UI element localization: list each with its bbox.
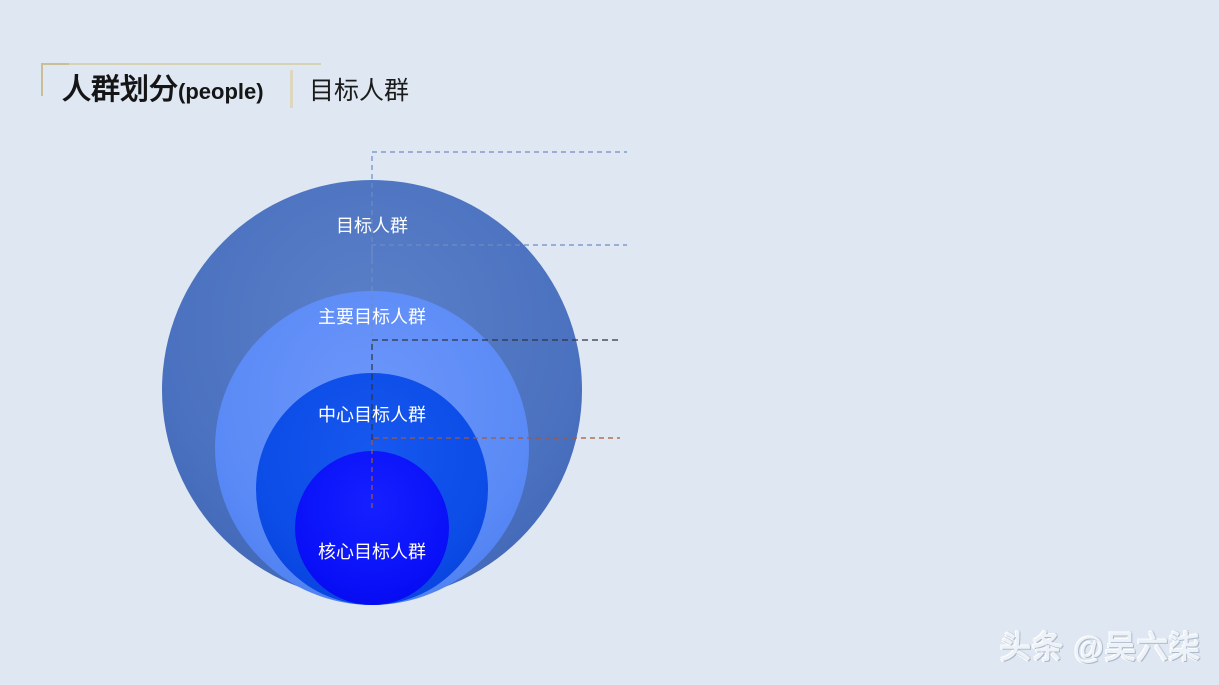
watermark: 头条 @吴六柒: [1000, 622, 1201, 667]
connector-target: [372, 152, 627, 260]
ring-label-core-target: 核心目标人群: [318, 540, 426, 564]
ring-label-target: 目标人群: [336, 214, 408, 238]
ring-label-center-target: 中心目标人群: [318, 403, 426, 427]
ring-circle-target: [162, 180, 582, 600]
header-accent-rule: [41, 63, 321, 65]
ring-group-target: [162, 180, 582, 600]
connector-main-target: [372, 245, 627, 345]
page-title-en: (people): [178, 79, 264, 104]
connector-core-target: [372, 438, 620, 508]
page-title: 人群划分(people): [62, 70, 264, 112]
page-header: 人群划分(people) 目标人群: [0, 0, 1219, 130]
ring-group-core-target: [295, 451, 449, 605]
page-title-cn: 人群划分: [62, 74, 178, 106]
ring-circle-core-target: [295, 451, 449, 605]
page-subtitle: 目标人群: [309, 74, 409, 108]
ring-label-main-target: 主要目标人群: [318, 305, 426, 329]
header-divider: [290, 70, 293, 108]
